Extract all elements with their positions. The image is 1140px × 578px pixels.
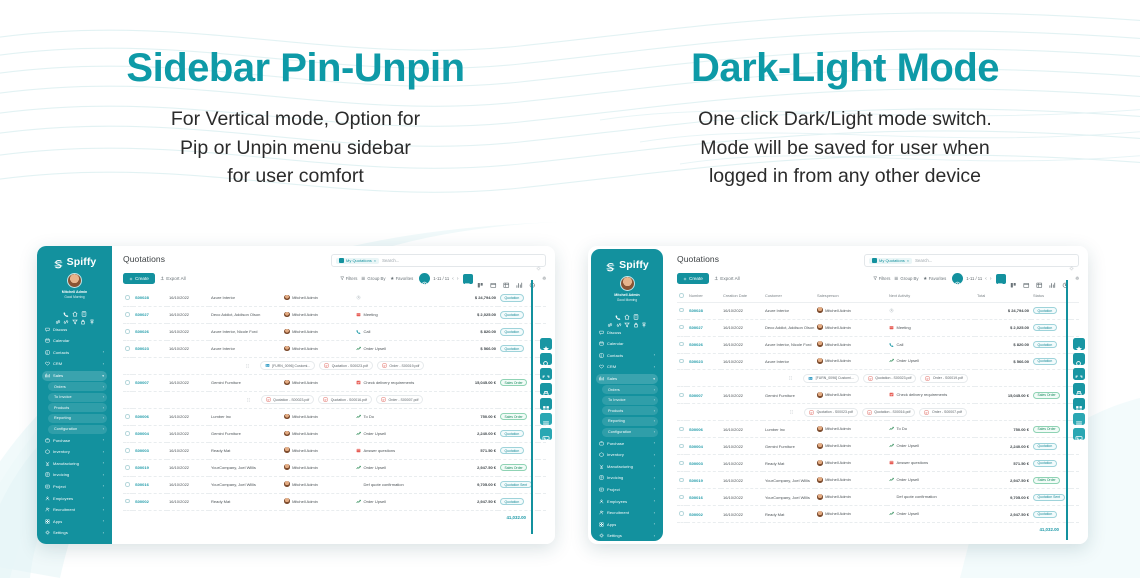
sidebar-item-purchase[interactable]: Purchase› [42, 435, 107, 445]
sidebar-item-invoicing[interactable]: Invoicing› [42, 470, 107, 480]
table-body[interactable]: S0002816/10/2022Azure Interior Mitchell … [123, 290, 546, 510]
rail-button-image-rail[interactable] [1073, 428, 1085, 440]
pager[interactable]: 1-11 / 11 ‹ › [952, 273, 991, 284]
row-checkbox[interactable] [677, 438, 687, 455]
phone-icon[interactable] [63, 304, 69, 310]
filters-button[interactable]: Filters [873, 276, 891, 281]
sidebar-item-configuration[interactable]: Configuration› [602, 428, 658, 437]
favorites-button[interactable]: Favorites [923, 276, 947, 281]
table-row[interactable]: S0001616/10/2022YourCompany, Joel Willis… [123, 476, 546, 493]
search-facet[interactable]: My Quotations × [869, 258, 912, 264]
quick-actions-row-1[interactable] [41, 302, 108, 310]
rail-button-list-rail[interactable] [1073, 413, 1085, 425]
search-input[interactable]: My Quotations × Search... [864, 254, 1079, 267]
checkbox-icon[interactable] [125, 482, 130, 487]
record-number-link[interactable]: S00019 [689, 478, 703, 483]
sidebar-item-recruitment[interactable]: Recruitment› [596, 508, 658, 518]
calendar-icon[interactable] [356, 482, 361, 487]
close-icon[interactable]: × [907, 258, 909, 263]
group-by-button[interactable]: Group By [894, 276, 918, 281]
row-checkbox[interactable] [677, 336, 687, 353]
next-activity[interactable]: Order Upsell [889, 511, 919, 516]
records-table[interactable]: S0002816/10/2022Azure Interior Mitchell … [123, 290, 546, 511]
sidebar-item-settings[interactable]: Settings› [596, 531, 658, 541]
pivot-view-icon[interactable] [1035, 274, 1045, 284]
checkbox-icon[interactable] [125, 431, 130, 436]
checkbox-icon[interactable] [679, 478, 684, 483]
table-row[interactable]: S0002316/10/2022Azure Interior Mitchell … [677, 353, 1079, 370]
search-area[interactable]: My Quotations × Search... [864, 254, 1079, 267]
check-icon[interactable] [356, 380, 361, 385]
row-checkbox[interactable] [677, 489, 687, 506]
attachment-chips-cell[interactable]: [FURN_0096] Customi... Quotation - S0002… [123, 357, 546, 374]
filters-button[interactable]: Filters [340, 276, 358, 281]
checkbox-icon[interactable] [125, 329, 130, 334]
checkbox-icon[interactable] [125, 380, 130, 385]
brand[interactable]: Spiffy [41, 253, 108, 273]
row-checkbox[interactable] [123, 442, 133, 459]
checkbox-icon[interactable] [679, 293, 684, 298]
lock-icon[interactable] [633, 315, 639, 321]
sidebar-menu[interactable]: DiscussCalendarContacts›CRM›Sales▾Orders… [595, 325, 659, 541]
record-number-link[interactable]: S00002 [135, 499, 149, 504]
attachment-row[interactable]: [FURN_0096] Customi... Quotation - S0002… [123, 357, 546, 374]
check-icon[interactable] [889, 392, 894, 397]
checkbox-icon[interactable] [679, 308, 684, 313]
sidebar-item-to-invoice[interactable]: To Invoice› [602, 396, 658, 405]
table-row[interactable]: S0000316/10/2022Ready Mat Mitchell Admin… [123, 442, 546, 459]
attachment-chip[interactable]: Order - S00007.pdf [919, 408, 966, 417]
checkbox-icon[interactable] [125, 295, 130, 300]
upsell-icon[interactable] [356, 431, 361, 436]
table-row[interactable]: S0001616/10/2022YourCompany, Joel Willis… [677, 489, 1079, 506]
sidebar-item-manufacturing[interactable]: Manufacturing› [42, 458, 107, 468]
row-checkbox[interactable] [123, 408, 133, 425]
upsell-icon[interactable] [889, 511, 894, 516]
next-activity[interactable]: Meeting [356, 312, 378, 317]
attachment-chip[interactable]: Quotation - S00016.pdf [318, 395, 372, 404]
upsell-icon[interactable] [889, 477, 894, 482]
sidebar-item-products[interactable]: Products› [602, 406, 658, 415]
next-activity[interactable]: Order Upsell [356, 346, 386, 351]
next-activity[interactable]: Call [889, 342, 903, 347]
sidebar-item-apps[interactable]: Apps› [596, 519, 658, 529]
row-checkbox[interactable] [677, 302, 687, 319]
sidebar-item-contacts[interactable]: Contacts› [42, 347, 107, 357]
table-row[interactable]: S0002816/10/2022Azure Interior Mitchell … [123, 290, 546, 306]
table-row[interactable]: S0000616/10/2022Lumber Inc Mitchell Admi… [677, 421, 1079, 438]
sidebar-item-inventory[interactable]: Inventory› [42, 447, 107, 457]
rail-button-expand[interactable] [1073, 368, 1085, 380]
refresh-icon[interactable] [952, 273, 963, 284]
pager-next-icon[interactable]: › [457, 276, 459, 282]
sidebar-item-manufacturing[interactable]: Manufacturing› [596, 461, 658, 471]
record-number-link[interactable]: S00016 [135, 482, 149, 487]
table-row[interactable]: S0002716/10/2022Deco Addict, Addison Ols… [677, 319, 1079, 336]
settings-toggle[interactable] [542, 276, 547, 281]
next-activity[interactable] [889, 308, 897, 313]
next-activity[interactable]: Check delivery requirements [356, 380, 414, 385]
list-view-icon[interactable] [463, 274, 473, 284]
row-checkbox[interactable] [677, 353, 687, 370]
row-checkbox[interactable] [123, 290, 133, 306]
record-number-link[interactable]: S00004 [135, 431, 149, 436]
checkbox-icon[interactable] [679, 342, 684, 347]
attachment-chips[interactable]: [FURN_0096] Customi... Quotation - S0002… [125, 361, 544, 370]
checkbox-icon[interactable] [679, 444, 684, 449]
rail-button-search-rail[interactable] [540, 353, 552, 365]
records-table-wrap[interactable]: S0002816/10/2022Azure Interior Mitchell … [112, 290, 555, 544]
next-activity[interactable]: To Do [889, 426, 907, 431]
records-table[interactable]: NumberCreation DateCustomerSalespersonNe… [677, 290, 1079, 523]
table-row[interactable]: S0000416/10/2022Gemini Furniture Mitchel… [123, 425, 546, 442]
next-activity[interactable]: Check delivery requirements [889, 392, 947, 397]
select-all-header[interactable] [677, 290, 687, 302]
sidebar-item-reporting[interactable]: Reporting› [602, 417, 658, 426]
attachment-chip[interactable]: Quotation - S00016.pdf [862, 408, 916, 417]
quick-actions-row-1[interactable] [595, 305, 659, 313]
record-number-link[interactable]: S00026 [135, 329, 149, 334]
search-facet[interactable]: My Quotations × [336, 258, 379, 264]
app-window-right[interactable]: SpiffyMitchell AdminGood MorningDiscussC… [588, 246, 1088, 544]
checkbox-icon[interactable] [679, 393, 684, 398]
home-icon[interactable] [72, 304, 78, 310]
attachment-chips-cell[interactable]: Quotation - S00023.pdf Quotation - S0001… [677, 404, 1079, 421]
app-window-left[interactable]: SpiffyMitchell AdminGood MorningDiscussC… [37, 246, 555, 544]
record-number-link[interactable]: S00003 [135, 448, 149, 453]
column-options[interactable] [1071, 290, 1079, 302]
meeting-icon[interactable] [356, 312, 361, 317]
record-number-link[interactable]: S00007 [689, 393, 703, 398]
table-row[interactable]: S0002616/10/2022Azure Interior, Nicole F… [677, 336, 1079, 353]
attachment-chip[interactable]: Quotation - S00023.pdf [804, 408, 858, 417]
next-activity[interactable]: Answer questions [889, 460, 928, 465]
record-number-link[interactable]: S00027 [689, 325, 703, 330]
quick-actions-row-2[interactable] [595, 313, 659, 325]
table-row[interactable]: S0000416/10/2022Gemini Furniture Mitchel… [677, 438, 1079, 455]
checkbox-icon[interactable] [125, 465, 130, 470]
calendar-view-icon[interactable] [1022, 274, 1032, 284]
row-checkbox[interactable] [123, 459, 133, 476]
record-number-link[interactable]: S00003 [689, 461, 703, 466]
row-checkbox[interactable] [123, 425, 133, 442]
checkbox-icon[interactable] [679, 427, 684, 432]
rail-button-grid-rail[interactable] [1073, 398, 1085, 410]
link-alt-icon[interactable] [63, 312, 69, 318]
table-row[interactable]: S0000216/10/2022Ready Mat Mitchell Admin… [123, 493, 546, 510]
record-number-link[interactable]: S00019 [135, 465, 149, 470]
row-checkbox[interactable] [123, 340, 133, 357]
table-row[interactable]: S0002316/10/2022Azure Interior Mitchell … [123, 340, 546, 357]
upsell-icon[interactable] [889, 443, 894, 448]
sidebar-item-crm[interactable]: CRM› [596, 362, 658, 372]
table-row[interactable]: S0002716/10/2022Deco Addict, Addison Ols… [123, 306, 546, 323]
row-checkbox[interactable] [677, 506, 687, 523]
attachment-chip[interactable]: [FURN_0096] Customi... [803, 374, 859, 383]
sidebar-item-project[interactable]: Project› [42, 481, 107, 491]
filter-icon[interactable] [72, 312, 78, 318]
column-header[interactable]: Customer [763, 290, 815, 302]
action-rail[interactable] [540, 338, 552, 440]
view-tools[interactable]: Filters Group By Favorites 1-11 / 11 ‹ › [340, 273, 546, 284]
rail-button-list-rail[interactable] [540, 413, 552, 425]
pager[interactable]: 1-11 / 11 ‹ › [419, 273, 458, 284]
checkbox-icon[interactable] [679, 495, 684, 500]
record-number-link[interactable]: S00023 [135, 346, 149, 351]
avatar[interactable] [620, 276, 635, 291]
view-switcher[interactable] [463, 274, 538, 284]
table-row[interactable]: S0002616/10/2022Azure Interior, Nicole F… [123, 323, 546, 340]
attachment-chips[interactable]: Quotation - S00023.pdf Quotation - S0001… [125, 395, 544, 404]
record-number-link[interactable]: S00006 [689, 427, 703, 432]
attachment-chip[interactable]: Quotation - S00023.pdf [261, 395, 315, 404]
rail-button-star[interactable] [540, 338, 552, 350]
kanban-view-icon[interactable] [1009, 274, 1019, 284]
next-activity[interactable]: Order Upsell [889, 477, 919, 482]
record-number-link[interactable]: S00027 [135, 312, 149, 317]
calculator-icon[interactable] [81, 304, 87, 310]
sidebar-item-employees[interactable]: Employees› [596, 496, 658, 506]
table-row[interactable]: S0001916/10/2022YourCompany, Joel Willis… [123, 459, 546, 476]
filter-icon[interactable] [624, 315, 630, 321]
create-button[interactable]: Create [123, 273, 155, 284]
column-header[interactable]: Creation Date [721, 290, 763, 302]
checkbox-icon[interactable] [125, 448, 130, 453]
drag-handle-icon[interactable] [789, 409, 794, 415]
row-checkbox[interactable] [677, 455, 687, 472]
list-view-icon[interactable] [996, 274, 1006, 284]
sidebar-item-products[interactable]: Products› [48, 403, 107, 412]
call-icon[interactable] [889, 342, 894, 347]
table-row[interactable]: S0000716/10/2022Gemini Furniture Mitchel… [123, 374, 546, 391]
avatar[interactable] [67, 273, 82, 288]
checkbox-icon[interactable] [679, 359, 684, 364]
drag-handle-icon[interactable] [245, 363, 250, 369]
checkbox-icon[interactable] [125, 346, 130, 351]
attachment-chips-cell[interactable]: Quotation - S00023.pdf Quotation - S0001… [123, 391, 546, 408]
record-number-link[interactable]: S00007 [135, 380, 149, 385]
kanban-view-icon[interactable] [476, 274, 486, 284]
column-header[interactable]: Number [687, 290, 721, 302]
todo-icon[interactable] [889, 426, 894, 431]
attachment-chip[interactable]: Order - S00007.pdf [376, 395, 423, 404]
checkbox-icon[interactable] [125, 414, 130, 419]
next-activity[interactable]: Def quote confirmation [356, 482, 404, 487]
sidebar-item-inventory[interactable]: Inventory› [596, 450, 658, 460]
sidebar-item-calendar[interactable]: Calendar [42, 336, 107, 346]
sidebar-item-crm[interactable]: CRM› [42, 359, 107, 369]
attachment-chip[interactable]: Quotation - S00023.pdf [319, 361, 373, 370]
attachment-chip[interactable]: Order - S00019.pdf [920, 374, 967, 383]
sidebar-item-settings[interactable]: Settings› [42, 528, 107, 538]
attachment-chip[interactable]: Order - S00019.pdf [377, 361, 424, 370]
sidebar-item-apps[interactable]: Apps› [42, 516, 107, 526]
answer-icon[interactable] [356, 448, 361, 453]
sidebar-item-purchase[interactable]: Purchase› [596, 438, 658, 448]
user-profile[interactable]: Mitchell AdminGood Morning [595, 276, 659, 305]
attachment-chip[interactable]: Quotation - S00023.pdf [863, 374, 917, 383]
sidebar-item-project[interactable]: Project› [596, 484, 658, 494]
next-activity[interactable]: Order Upsell [889, 443, 919, 448]
link-alt-icon[interactable] [616, 315, 622, 321]
row-checkbox[interactable] [123, 323, 133, 340]
refresh-icon[interactable] [419, 273, 430, 284]
calendar-icon[interactable] [889, 494, 894, 499]
attachment-row[interactable]: Quotation - S00023.pdf Quotation - S0001… [123, 391, 546, 408]
export-all-button[interactable]: Export All [714, 276, 740, 281]
rail-button-image-rail[interactable] [540, 428, 552, 440]
record-number-link[interactable]: S00028 [689, 308, 703, 313]
row-checkbox[interactable] [677, 319, 687, 336]
row-checkbox[interactable] [677, 472, 687, 489]
row-checkbox[interactable] [677, 387, 687, 404]
pin-icon[interactable] [641, 315, 647, 321]
sidebar-item-sales[interactable]: Sales▾ [596, 374, 658, 384]
table-row[interactable]: S0001916/10/2022YourCompany, Joel Willis… [677, 472, 1079, 489]
clock-icon[interactable] [356, 295, 361, 300]
brand[interactable]: Spiffy [595, 256, 659, 276]
table-row[interactable]: S0000616/10/2022Lumber Inc Mitchell Admi… [123, 408, 546, 425]
gear-icon[interactable] [536, 258, 541, 263]
sidebar-item-to-invoice[interactable]: To Invoice› [48, 393, 107, 402]
table-row[interactable]: S0000316/10/2022Ready Mat Mitchell Admin… [677, 455, 1079, 472]
upsell-icon[interactable] [356, 499, 361, 504]
column-header[interactable]: Total [975, 290, 1031, 302]
view-switcher[interactable] [996, 274, 1071, 284]
pager-prev-icon[interactable]: ‹ [452, 276, 454, 282]
next-activity[interactable]: Call [356, 329, 370, 334]
row-checkbox[interactable] [123, 374, 133, 391]
close-icon[interactable]: × [374, 258, 376, 263]
checkbox-icon[interactable] [679, 325, 684, 330]
graph-view-icon[interactable] [515, 274, 525, 284]
primary-actions[interactable]: Create Export All [123, 273, 186, 284]
records-table-wrap[interactable]: NumberCreation DateCustomerSalespersonNe… [666, 290, 1088, 544]
attachment-chip[interactable]: [FURN_0096] Customi... [260, 361, 316, 370]
checkbox-icon[interactable] [125, 312, 130, 317]
pin-icon[interactable] [89, 312, 95, 318]
drag-handle-icon[interactable] [246, 397, 251, 403]
rail-button-grid-rail[interactable] [540, 398, 552, 410]
next-activity[interactable]: Order Upsell [356, 465, 386, 470]
next-activity[interactable]: Answer questions [356, 448, 395, 453]
sidebar-item-reporting[interactable]: Reporting› [48, 414, 107, 423]
next-activity[interactable]: Meeting [889, 325, 911, 330]
sidebar-item-sales[interactable]: Sales▾ [42, 371, 107, 381]
settings-toggle[interactable] [1075, 276, 1080, 281]
row-checkbox[interactable] [677, 421, 687, 438]
sidebar-item-orders[interactable]: Orders› [602, 385, 658, 394]
sidebar-item-calendar[interactable]: Calendar [596, 339, 658, 349]
pager-prev-icon[interactable]: ‹ [985, 276, 987, 282]
create-button[interactable]: Create [677, 273, 709, 284]
home-icon[interactable] [624, 307, 630, 313]
rail-button-print[interactable] [1073, 383, 1085, 395]
attachment-row[interactable]: [FURN_0096] Customi... Quotation - S0002… [677, 370, 1079, 387]
attachment-chips-cell[interactable]: [FURN_0096] Customi... Quotation - S0002… [677, 370, 1079, 387]
meeting-icon[interactable] [889, 325, 894, 330]
view-tools[interactable]: Filters Group By Favorites 1-11 / 11 ‹ › [873, 273, 1079, 284]
next-activity[interactable]: Order Upsell [889, 358, 919, 363]
rail-button-print[interactable] [540, 383, 552, 395]
lock-icon[interactable] [80, 312, 86, 318]
record-number-link[interactable]: S00016 [689, 495, 703, 500]
clock-icon[interactable] [889, 308, 894, 313]
sidebar-item-orders[interactable]: Orders› [48, 382, 107, 391]
rail-button-search-rail[interactable] [1073, 353, 1085, 365]
upsell-icon[interactable] [356, 346, 361, 351]
column-header[interactable]: Status [1031, 290, 1071, 302]
record-number-link[interactable]: S00028 [135, 295, 149, 300]
checkbox-icon[interactable] [125, 499, 130, 504]
checkbox-icon[interactable] [679, 461, 684, 466]
sidebar-item-employees[interactable]: Employees› [42, 493, 107, 503]
link-icon[interactable] [607, 315, 613, 321]
sidebar-item-invoicing[interactable]: Invoicing› [596, 473, 658, 483]
todo-icon[interactable] [356, 414, 361, 419]
link-icon[interactable] [55, 312, 61, 318]
call-icon[interactable] [356, 329, 361, 334]
sidebar[interactable]: SpiffyMitchell AdminGood MorningDiscussC… [591, 249, 663, 541]
graph-view-icon[interactable] [1048, 274, 1058, 284]
record-number-link[interactable]: S00002 [689, 512, 703, 517]
drag-handle-icon[interactable] [788, 375, 793, 381]
next-activity[interactable]: To Do [356, 414, 374, 419]
record-number-link[interactable]: S00004 [689, 444, 703, 449]
column-header[interactable]: Next Activity [887, 290, 975, 302]
action-rail[interactable] [1073, 338, 1085, 440]
sidebar-menu[interactable]: DiscussCalendarContacts›CRM›Sales▾Orders… [41, 322, 108, 544]
rail-button-star[interactable] [1073, 338, 1085, 350]
primary-actions[interactable]: Create Export All [677, 273, 740, 284]
table-row[interactable]: S0000716/10/2022Gemini Furniture Mitchel… [677, 387, 1079, 404]
answer-icon[interactable] [889, 460, 894, 465]
sidebar-item-configuration[interactable]: Configuration› [48, 425, 107, 434]
next-activity[interactable]: Order Upsell [356, 499, 386, 504]
upsell-icon[interactable] [356, 465, 361, 470]
pivot-view-icon[interactable] [502, 274, 512, 284]
next-activity[interactable]: Def quote confirmation [889, 494, 937, 499]
upsell-icon[interactable] [889, 358, 894, 363]
row-checkbox[interactable] [123, 476, 133, 493]
pager-next-icon[interactable]: › [990, 276, 992, 282]
attachment-chips[interactable]: [FURN_0096] Customi... Quotation - S0002… [679, 374, 1077, 383]
sidebar-item-recruitment[interactable]: Recruitment› [42, 505, 107, 515]
calculator-icon[interactable] [633, 307, 639, 313]
table-row[interactable]: S0000216/10/2022Ready Mat Mitchell Admin… [677, 506, 1079, 523]
favorites-button[interactable]: Favorites [390, 276, 414, 281]
rail-button-expand[interactable] [540, 368, 552, 380]
next-activity[interactable] [356, 295, 364, 300]
row-checkbox[interactable] [123, 306, 133, 323]
group-by-button[interactable]: Group By [361, 276, 385, 281]
sidebar-item-discuss[interactable]: Discuss [596, 327, 658, 337]
quick-actions-row-2[interactable] [41, 310, 108, 322]
user-profile[interactable]: Mitchell AdminGood Morning [41, 273, 108, 302]
column-header[interactable]: Salesperson [815, 290, 887, 302]
search-area[interactable]: My Quotations × Search... [331, 254, 546, 267]
table-body[interactable]: S0002816/10/2022Azure Interior Mitchell … [677, 302, 1079, 523]
table-row[interactable]: S0002816/10/2022Azure Interior Mitchell … [677, 302, 1079, 319]
record-number-link[interactable]: S00023 [689, 359, 703, 364]
sidebar[interactable]: SpiffyMitchell AdminGood MorningDiscussC… [37, 246, 112, 544]
sidebar-item-discuss[interactable]: Discuss [42, 324, 107, 334]
record-number-link[interactable]: S00006 [135, 414, 149, 419]
gear-icon[interactable] [1069, 258, 1074, 263]
calendar-view-icon[interactable] [489, 274, 499, 284]
sidebar-item-contacts[interactable]: Contacts› [596, 350, 658, 360]
search-input[interactable]: My Quotations × Search... [331, 254, 546, 267]
